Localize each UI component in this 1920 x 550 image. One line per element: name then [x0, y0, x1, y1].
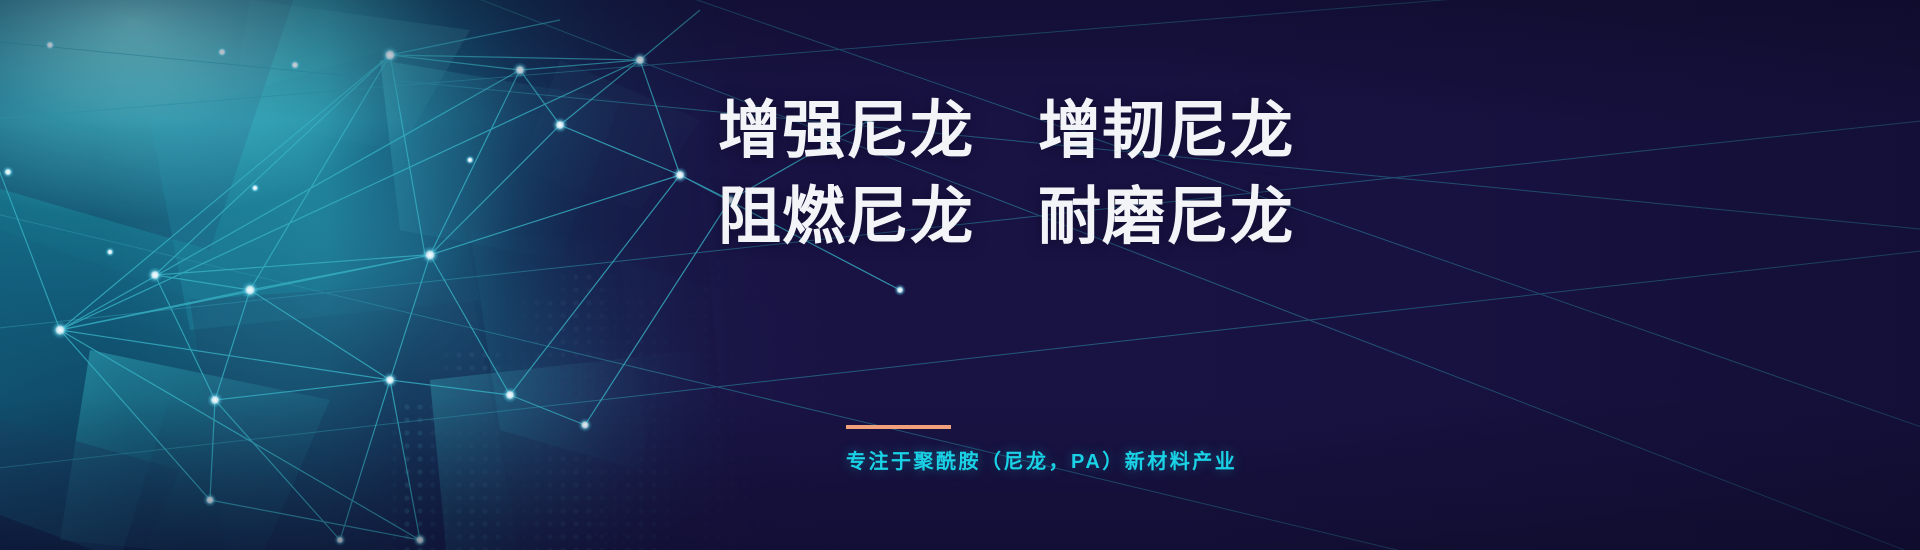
tagline-text: 专注于聚酰胺（尼龙，PA）新材料产业 [846, 445, 1606, 474]
headline-line-1: 增强尼龙 增韧尼龙 [718, 88, 1478, 174]
hero-banner: 增强尼龙 增韧尼龙 阻燃尼龙 耐磨尼龙 专注于聚酰胺（尼龙，PA）新材料产业 [0, 0, 1920, 550]
divider-rule [846, 425, 951, 429]
headline-block: 增强尼龙 增韧尼龙 阻燃尼龙 耐磨尼龙 [718, 88, 1478, 260]
banner-content: 增强尼龙 增韧尼龙 阻燃尼龙 耐磨尼龙 专注于聚酰胺（尼龙，PA）新材料产业 [718, 0, 1478, 550]
headline-line-2: 阻燃尼龙 耐磨尼龙 [718, 174, 1478, 260]
tagline-block: 专注于聚酰胺（尼龙，PA）新材料产业 [846, 425, 1606, 474]
